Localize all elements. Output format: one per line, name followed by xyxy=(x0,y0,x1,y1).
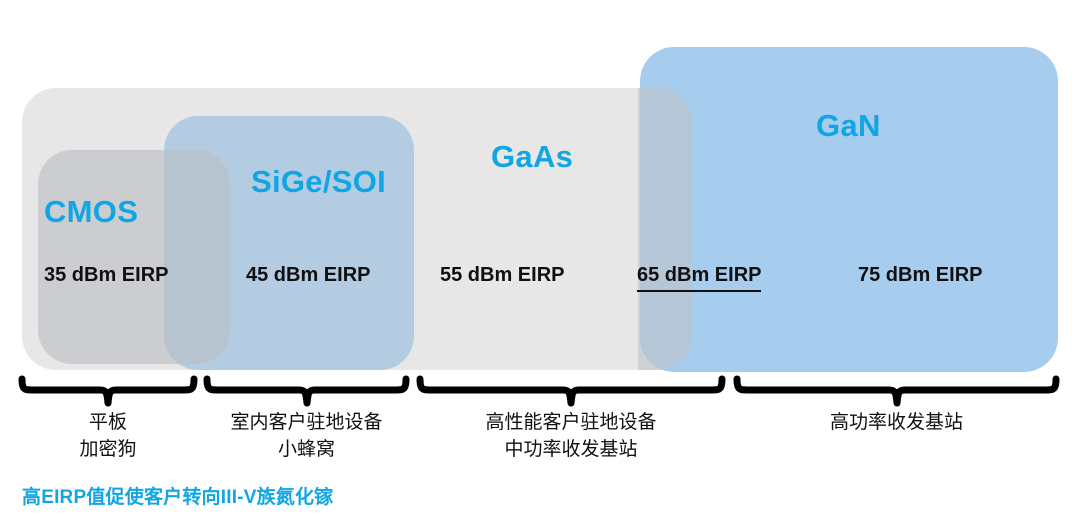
app-caption-high-perf-cpe-mid-power: 高性能客户驻地设备 中功率收发基站 xyxy=(416,410,726,464)
brace-high-power-base-station xyxy=(733,377,1060,405)
app-caption-tablet-dongle: 平板 加密狗 xyxy=(18,410,198,464)
brace-indoor-cpe-small-cell xyxy=(203,377,410,405)
tech-label-gaas: GaAs xyxy=(491,141,573,172)
tech-label-gan: GaN xyxy=(816,110,881,141)
figure-footer-note: 高EIRP值促使客户转向III-V族氮化镓 xyxy=(22,488,333,507)
brace-tablet-dongle xyxy=(18,377,198,405)
eirp-technology-diagram: CMOS SiGe/SOI GaAs GaN 35 dBm EIRP 45 dB… xyxy=(0,0,1080,522)
eirp-value-75: 75 dBm EIRP xyxy=(858,265,982,285)
gaas-gan-overlap-block xyxy=(638,88,692,370)
app-caption-indoor-cpe-small-cell: 室内客户驻地设备 小蜂窝 xyxy=(198,410,415,464)
tech-label-cmos: CMOS xyxy=(44,196,138,227)
eirp-value-65: 65 dBm EIRP xyxy=(637,265,761,292)
tech-label-sige-soi: SiGe/SOI xyxy=(251,166,386,197)
eirp-value-55: 55 dBm EIRP xyxy=(440,265,564,285)
eirp-value-35: 35 dBm EIRP xyxy=(44,265,168,285)
brace-high-perf-cpe-mid-power xyxy=(416,377,726,405)
app-caption-high-power-base-station: 高功率收发基站 xyxy=(733,410,1060,437)
cmos-block xyxy=(38,150,230,364)
eirp-value-45: 45 dBm EIRP xyxy=(246,265,370,285)
gan-block xyxy=(640,47,1058,372)
